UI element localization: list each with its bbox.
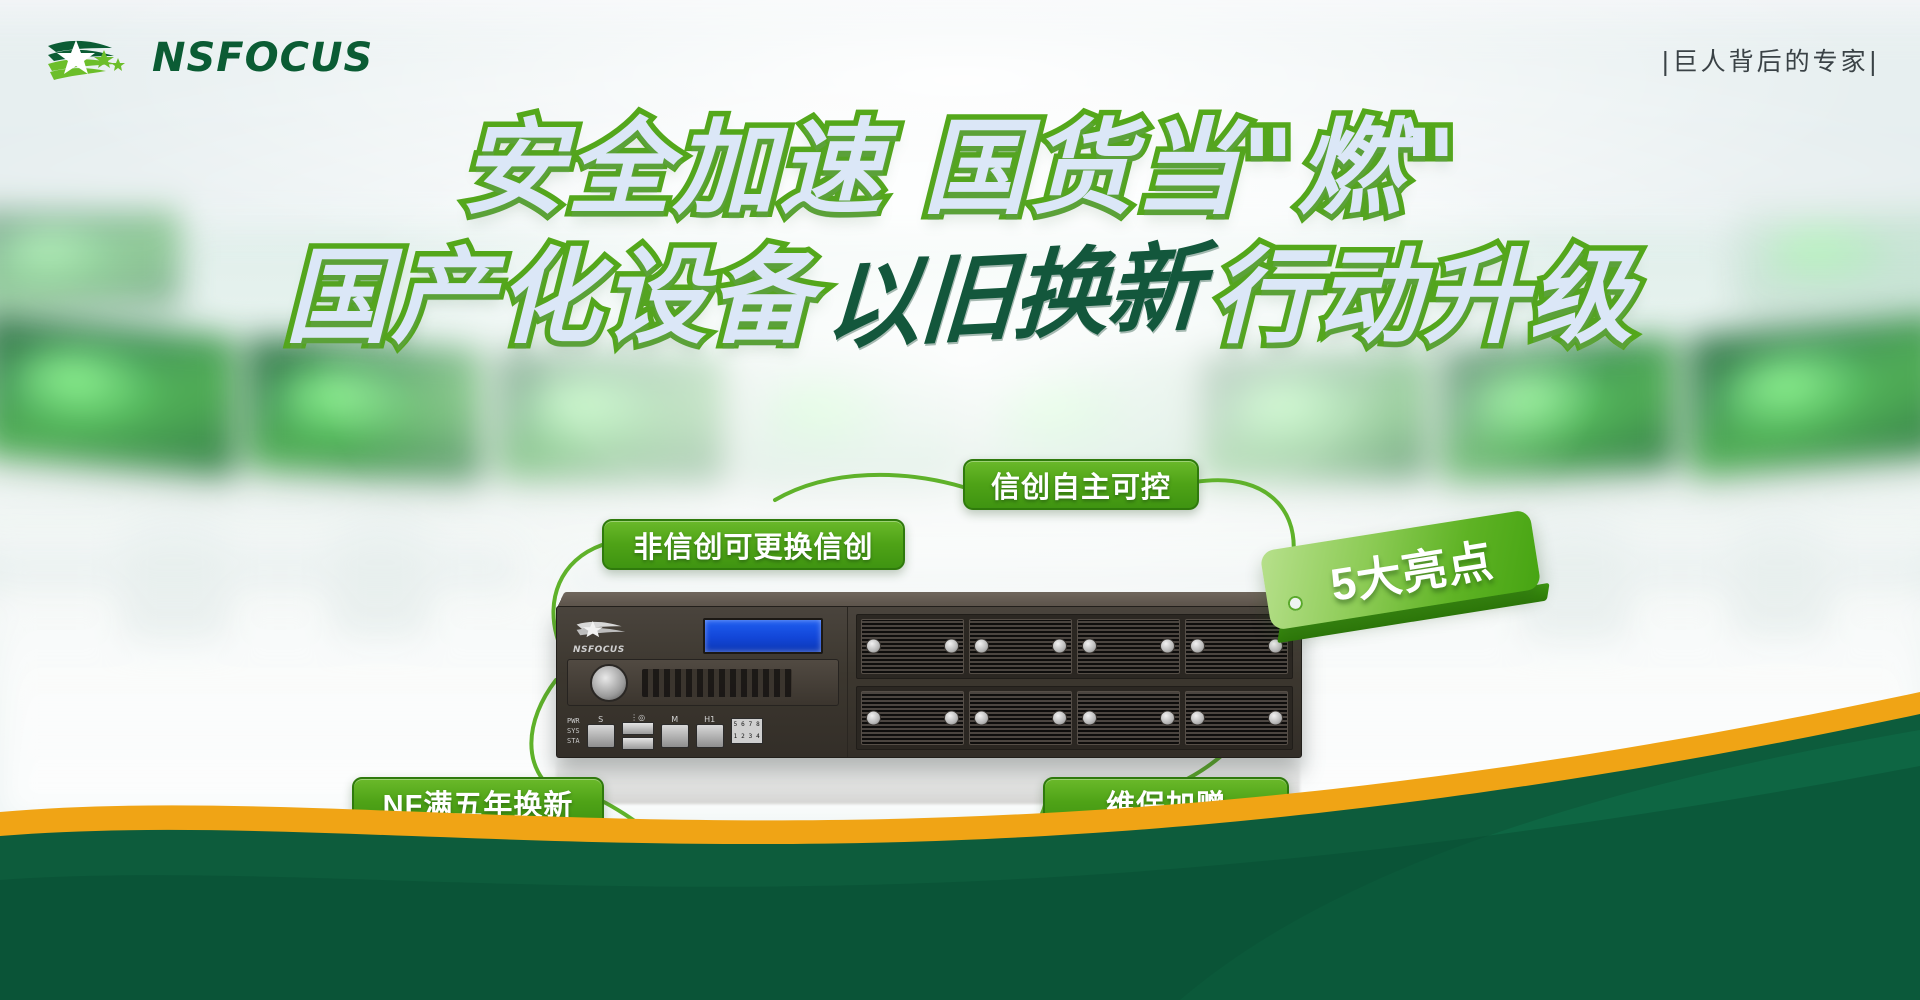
headline-block: 安全加速 国货当"燃" 国产化设备以旧换新行动升级 bbox=[0, 108, 1920, 349]
headline-line-2-right: 行动升级 bbox=[1211, 245, 1635, 349]
banner-canvas: NSFOCUS |巨人背后的专家| 安全加速 国货当"燃" 国产化设备以旧换新行… bbox=[0, 0, 1920, 1000]
headline-line-2-left: 国产化设备 bbox=[285, 245, 815, 349]
headline-brush-calligraphy: 以旧换新 bbox=[823, 239, 1204, 355]
badge-xinchuang-autonomous[interactable]: 信创自主可控 bbox=[963, 459, 1199, 510]
headline-line-1: 安全加速 国货当"燃" bbox=[0, 108, 1920, 220]
headline-line-1-text: 安全加速 国货当"燃" bbox=[461, 116, 1460, 220]
nsfocus-flag-star-logo bbox=[42, 34, 142, 82]
badge-non-xc-replaceable[interactable]: 非信创可更换信创 bbox=[602, 519, 905, 570]
brand-logo[interactable]: NSFOCUS bbox=[42, 34, 373, 82]
brand-logo-text: NSFOCUS bbox=[152, 35, 373, 81]
brand-tagline: |巨人背后的专家| bbox=[1661, 42, 1880, 78]
headline-line-2: 国产化设备以旧换新行动升级 bbox=[0, 238, 1920, 350]
bottom-wave-decoration bbox=[0, 580, 1920, 1000]
monitor-wall-screen bbox=[742, 356, 957, 478]
monitor-wall-screen bbox=[1200, 350, 1425, 480]
monitor-wall-screen bbox=[500, 350, 725, 480]
